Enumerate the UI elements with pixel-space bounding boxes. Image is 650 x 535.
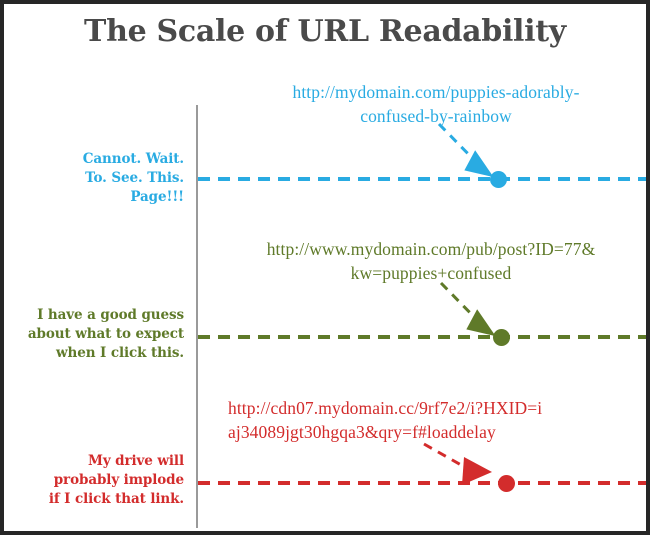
scale-dashed-line-good <box>198 177 646 181</box>
label-line: when I click this. <box>0 344 184 363</box>
label-line: Cannot. Wait. <box>0 150 184 169</box>
dash-segments <box>198 335 646 339</box>
label-line: Page!!! <box>0 188 184 207</box>
chart-canvas: The Scale of URL Readability http://mydo… <box>4 4 646 531</box>
scale-dashed-line-medium <box>198 335 646 339</box>
url-line: http://cdn07.mydomain.cc/9rf7e2/i?HXID=i <box>194 396 642 420</box>
page-title: The Scale of URL Readability <box>4 14 646 49</box>
label-line: probably implode <box>0 471 184 490</box>
scale-marker-dot-good <box>490 171 507 188</box>
label-line: I have a good guess <box>0 306 184 325</box>
scale-label-medium: I have a good guess about what to expect… <box>0 306 184 363</box>
scale-label-good: Cannot. Wait. To. See. This. Page!!! <box>0 150 184 207</box>
scale-marker-dot-bad <box>498 475 515 492</box>
url-line: kw=puppies+confused <box>216 261 646 285</box>
dash-segments <box>198 481 646 485</box>
label-line: My drive will <box>0 452 184 471</box>
label-line: To. See. This. <box>0 169 184 188</box>
url-annotation-good: http://mydomain.com/puppies-adorably- co… <box>226 80 646 128</box>
url-line: http://mydomain.com/puppies-adorably- <box>226 80 646 104</box>
vertical-axis-line <box>196 105 198 528</box>
scale-label-bad: My drive will probably implode if I clic… <box>0 452 184 509</box>
url-annotation-medium: http://www.mydomain.com/pub/post?ID=77& … <box>216 237 646 285</box>
label-line: if I click that link. <box>0 490 184 509</box>
infographic-frame: The Scale of URL Readability http://mydo… <box>0 0 650 535</box>
dash-segments <box>198 177 646 181</box>
url-line: http://www.mydomain.com/pub/post?ID=77& <box>216 237 646 261</box>
scale-marker-dot-medium <box>493 329 510 346</box>
url-line: aj34089jgt30hgqa3&qry=f#loaddelay <box>194 420 642 444</box>
scale-dashed-line-bad <box>198 481 646 485</box>
label-line: about what to expect <box>0 325 184 344</box>
url-annotation-bad: http://cdn07.mydomain.cc/9rf7e2/i?HXID=i… <box>194 396 642 444</box>
